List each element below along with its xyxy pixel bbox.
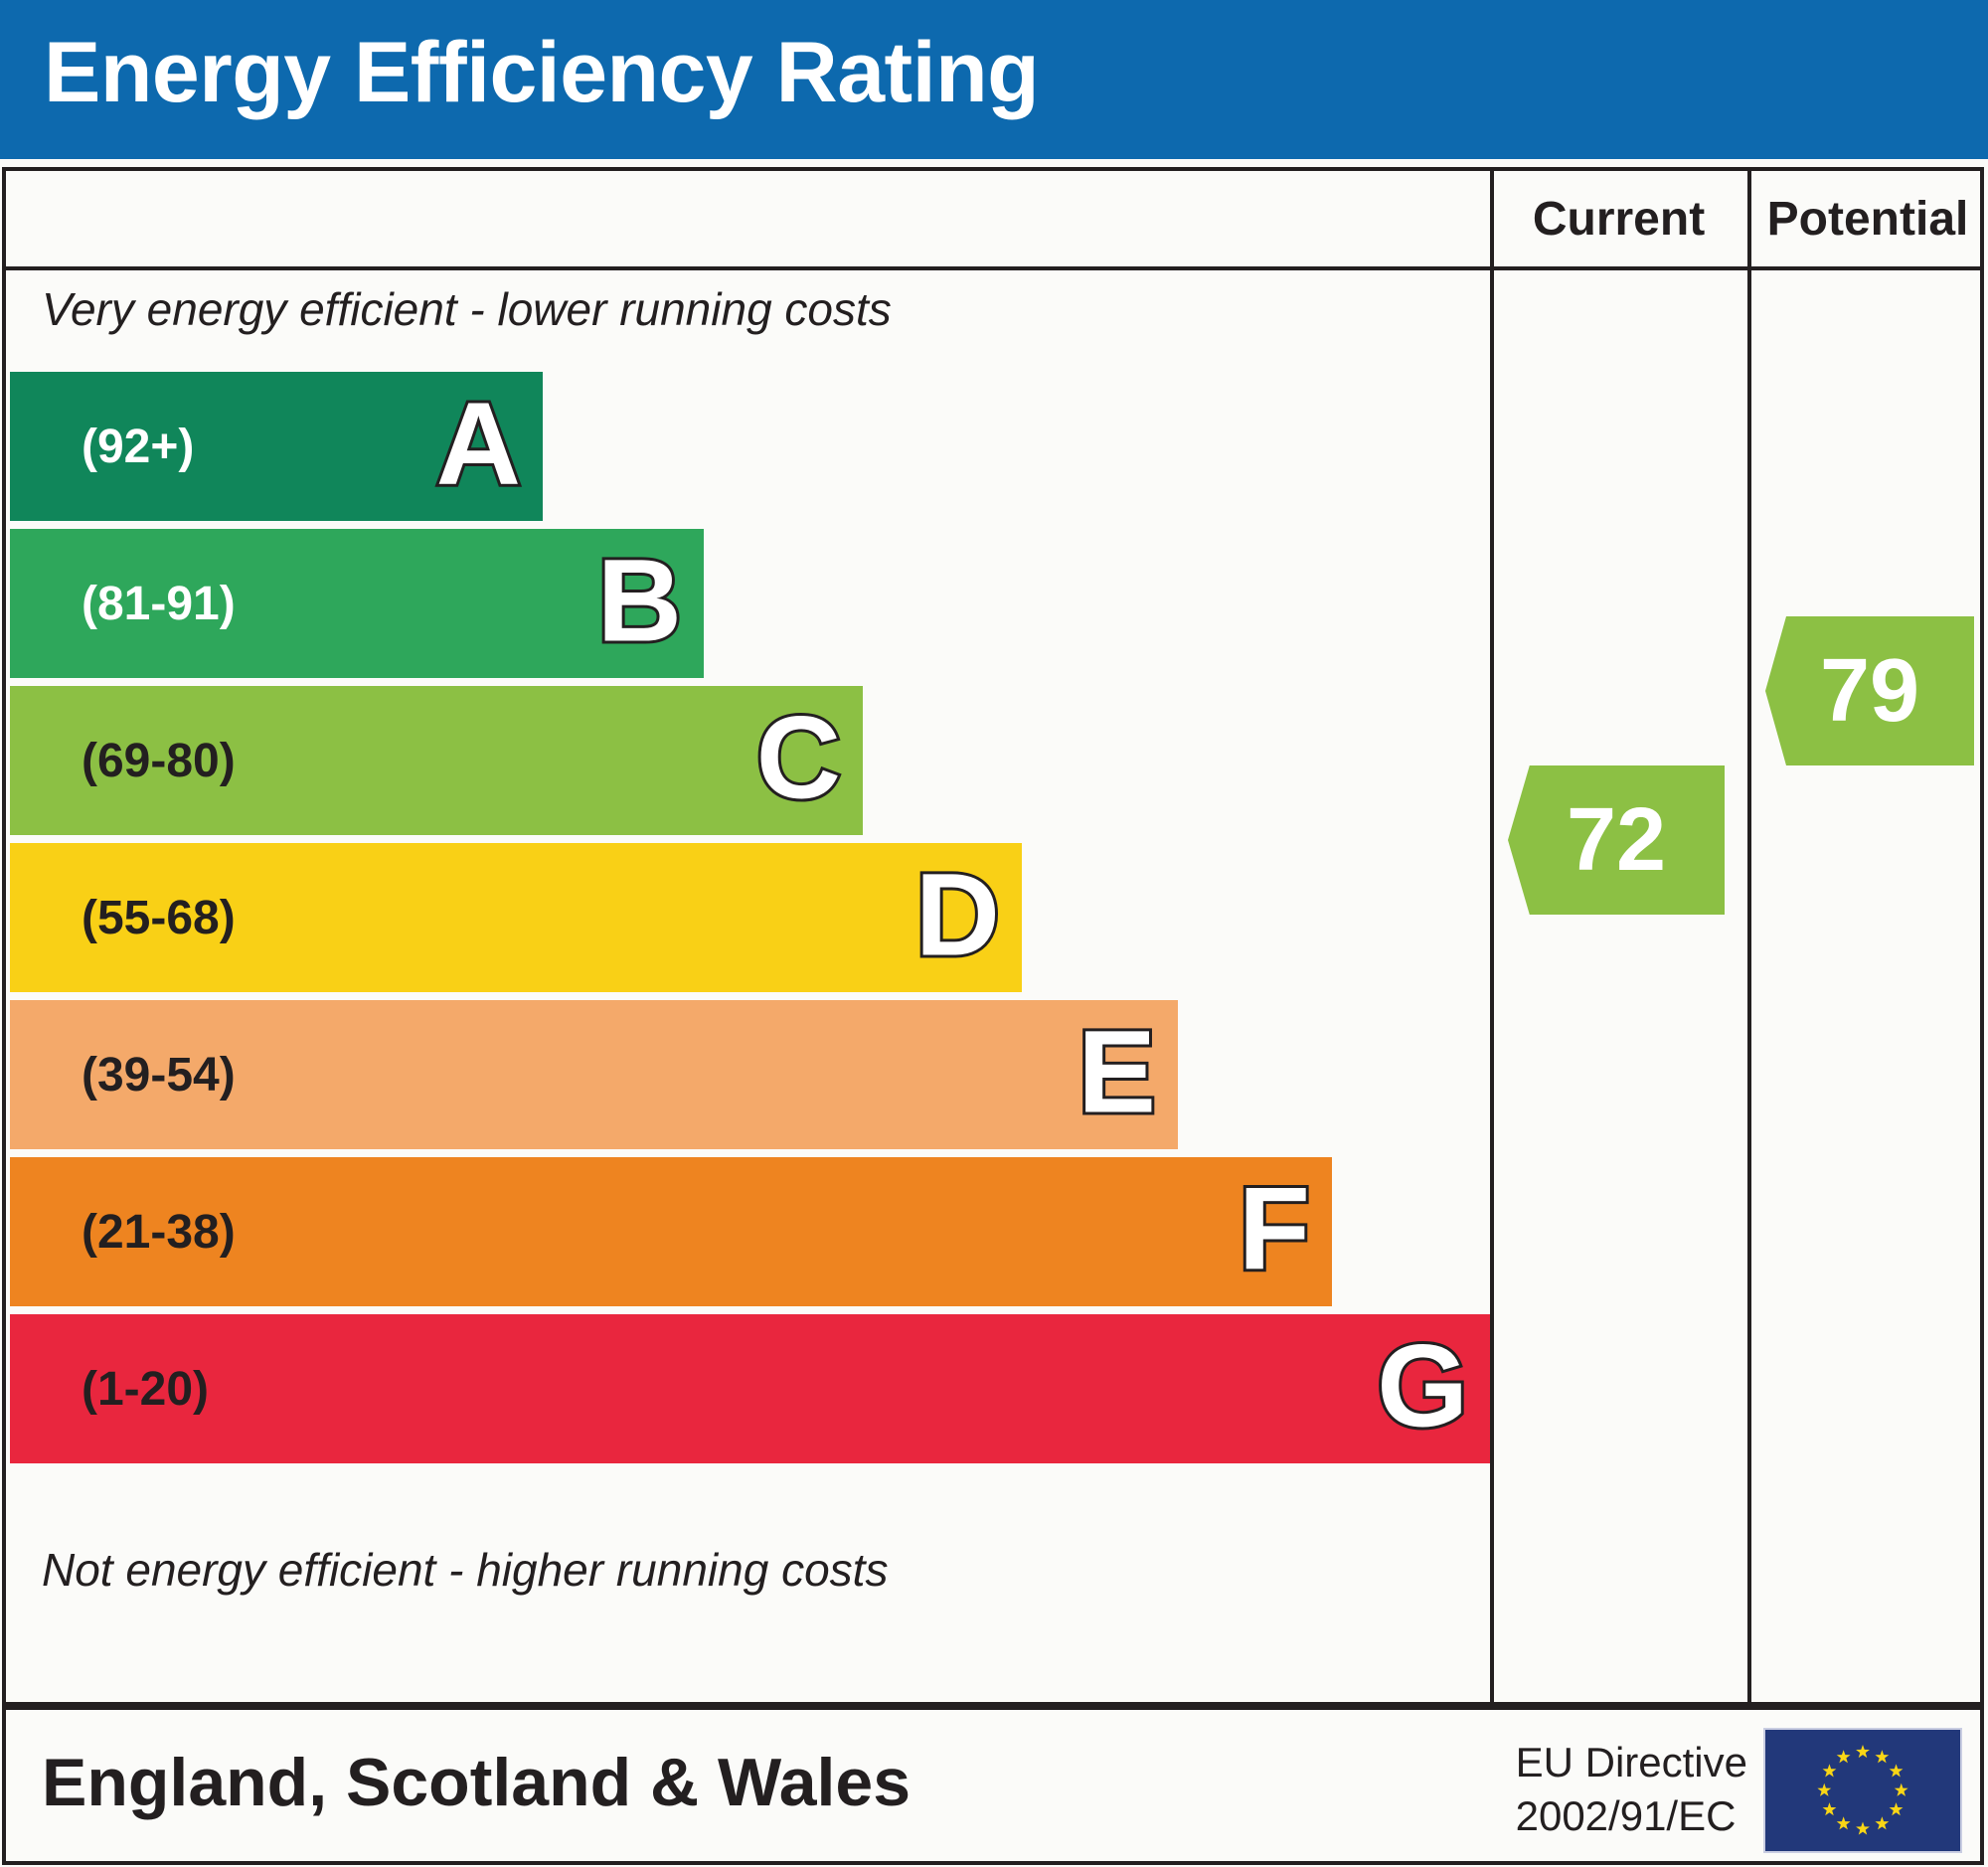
- caption-efficient: Very energy efficient - lower running co…: [42, 282, 892, 336]
- chart-frame: Current Potential Very energy efficient …: [2, 167, 1984, 1706]
- rating-band-a-letter: A: [436, 386, 521, 503]
- rating-band-a-range: (92+): [82, 420, 194, 474]
- footer-directive-line1: EU Directive: [1516, 1736, 1747, 1789]
- current-rating-badge: 72: [1508, 765, 1725, 915]
- potential-rating-badge: 79: [1765, 616, 1974, 765]
- rating-band-e-range: (39-54): [82, 1048, 236, 1103]
- rating-band-g: (1-20) G: [10, 1314, 1490, 1463]
- rating-band-g-letter: G: [1377, 1328, 1468, 1445]
- rating-band-c-range: (69-80): [82, 734, 236, 788]
- rating-band-f: (21-38) F: [10, 1157, 1332, 1306]
- chart-footer: England, Scotland & Wales EU Directive 2…: [2, 1706, 1984, 1865]
- footer-directive: EU Directive 2002/91/EC: [1516, 1736, 1747, 1843]
- footer-region-label: England, Scotland & Wales: [42, 1744, 911, 1821]
- column-divider-current: [1490, 270, 1494, 1706]
- rating-band-c: (69-80) C: [10, 686, 863, 835]
- rating-band-b-range: (81-91): [82, 577, 236, 631]
- caption-not-efficient: Not energy efficient - higher running co…: [42, 1543, 888, 1597]
- rating-band-b: (81-91) B: [10, 529, 704, 678]
- column-divider-potential: [1747, 270, 1751, 1706]
- chart-title-bar: Energy Efficiency Rating: [0, 0, 1988, 159]
- rating-band-f-range: (21-38): [82, 1205, 236, 1260]
- rating-band-b-letter: B: [597, 543, 682, 660]
- column-header-current: Current: [1490, 171, 1743, 266]
- rating-band-d-range: (55-68): [82, 891, 236, 945]
- footer-directive-line2: 2002/91/EC: [1516, 1789, 1747, 1843]
- page-title: Energy Efficiency Rating: [44, 24, 1039, 122]
- rating-band-d-letter: D: [915, 857, 1000, 974]
- rating-band-e-letter: E: [1077, 1014, 1156, 1131]
- rating-band-a: (92+) A: [10, 372, 543, 521]
- rating-band-e: (39-54) E: [10, 1000, 1178, 1149]
- column-header-row: Current Potential: [6, 171, 1980, 270]
- rating-band-f-letter: F: [1239, 1171, 1310, 1288]
- rating-band-c-letter: C: [756, 700, 841, 817]
- energy-efficiency-rating-chart: Energy Efficiency Rating Current Potenti…: [0, 0, 1988, 1867]
- column-header-potential: Potential: [1747, 171, 1984, 266]
- rating-band-g-range: (1-20): [82, 1362, 209, 1417]
- eu-flag-icon: [1763, 1728, 1962, 1853]
- rating-band-d: (55-68) D: [10, 843, 1022, 992]
